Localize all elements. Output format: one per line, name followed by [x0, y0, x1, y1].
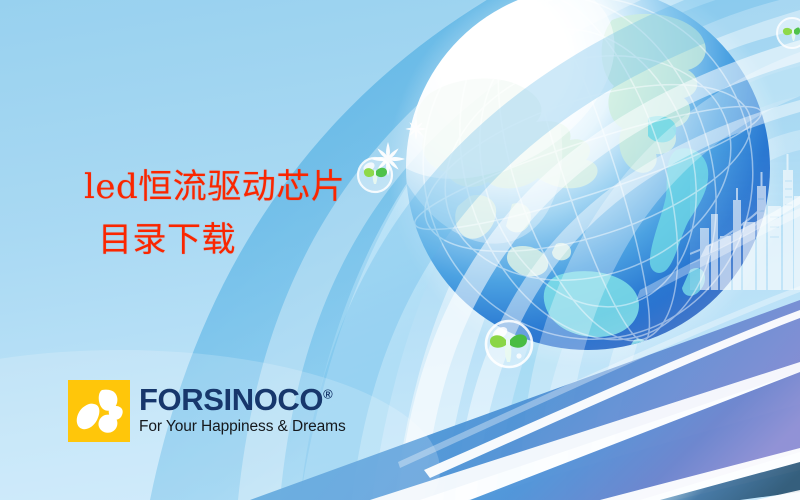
brand-tagline: For Your Happiness & Dreams: [139, 418, 346, 436]
headline-line-2: 目录下载: [84, 219, 345, 263]
banner-headline: led恒流驱动芯片 目录下载: [84, 166, 345, 262]
city-skyline-icon: [690, 150, 800, 290]
brand-name: FORSINOCO®: [139, 384, 346, 415]
promo-banner: led恒流驱动芯片 目录下载 FORSINOCO®: [0, 0, 800, 500]
starburst-sparkle-icon: [367, 116, 429, 180]
four-petal-pinwheel-icon: [68, 380, 130, 442]
bubble-with-green-sprout-icon: [358, 18, 800, 367]
brand-name-text: FORSINOCO: [139, 382, 323, 417]
headline-line-1: led恒流驱动芯片: [84, 166, 345, 210]
earth-globe-icon: [338, 0, 797, 382]
registered-trademark-symbol: ®: [323, 387, 332, 402]
company-logo: FORSINOCO® For Your Happiness & Dreams: [68, 380, 346, 442]
logo-wordmark: FORSINOCO® For Your Happiness & Dreams: [139, 380, 346, 436]
light-streaks: [636, 196, 800, 300]
